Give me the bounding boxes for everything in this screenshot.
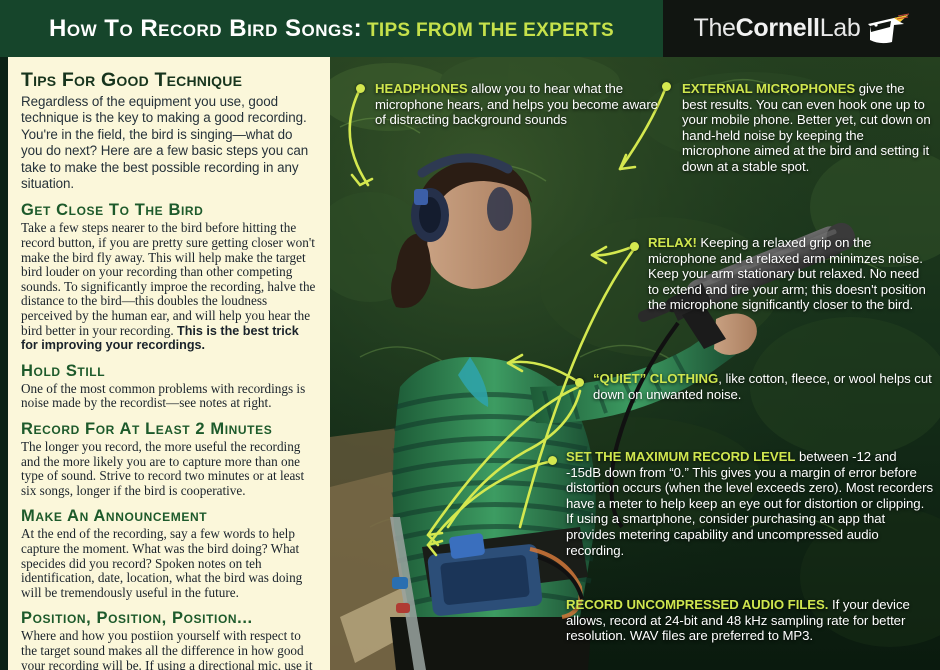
- callout-dot-record-level: [548, 456, 557, 465]
- sidebar-section-tips-for-good-technique: Tips for Good Technique Regardless of th…: [21, 69, 316, 192]
- callout-external-microphones: EXTERNAL MICROPHONES give the best resul…: [682, 81, 932, 175]
- callout-dot-quiet-clothing: [575, 378, 584, 387]
- tips-sidebar: Tips for Good Technique Regardless of th…: [8, 57, 330, 670]
- section-body-text: Take a few steps nearer to the bird befo…: [21, 220, 315, 337]
- sidebar-section-hold-still: Hold Still One of the most common proble…: [21, 362, 316, 411]
- logo-wordmark: TheCornellLab: [693, 14, 860, 43]
- callout-keyword: RECORD UNCOMPRESSED AUDIO FILES.: [566, 597, 828, 612]
- field-recording-photo: HEADPHONES allow you to hear what the mi…: [330, 57, 940, 670]
- page-title-main: How To Record Bird Songs:: [49, 15, 362, 42]
- section-body: Regardless of the equipment you use, goo…: [21, 94, 316, 192]
- infographic-page: How To Record Bird Songs: Tips from the …: [0, 0, 940, 670]
- callout-dot-relax: [630, 242, 639, 251]
- section-heading: Position, Position, Position...: [21, 609, 316, 628]
- page-title-accent: Tips from the Experts: [367, 20, 614, 41]
- callout-keyword: “QUIET” CLOTHING: [593, 371, 718, 386]
- cornell-lab-logo[interactable]: TheCornellLab: [663, 0, 940, 57]
- page-header: How To Record Bird Songs: Tips from the …: [0, 0, 940, 57]
- section-heading: Record For At Least 2 Minutes: [21, 420, 316, 439]
- callout-keyword: HEADPHONES: [375, 81, 468, 96]
- section-body: The longer you record, the more useful t…: [21, 440, 316, 498]
- sidebar-section-position-position-position: Position, Position, Position... Where an…: [21, 609, 316, 670]
- section-body: Where and how you postiion yourself with…: [21, 629, 316, 670]
- callout-keyword: EXTERNAL MICROPHONES: [682, 81, 855, 96]
- section-body: One of the most common problems with rec…: [21, 382, 316, 411]
- sidebar-section-make-an-announcement: Make An Announcement At the end of the r…: [21, 507, 316, 600]
- section-heading: Make An Announcement: [21, 507, 316, 526]
- logo-cornell: Cornell: [736, 14, 820, 42]
- callout-keyword: RELAX!: [648, 235, 697, 250]
- section-heading: Get Close to the Bird: [21, 201, 316, 220]
- section-body: At the end of the recording, say a few w…: [21, 527, 316, 600]
- callout-record-level: SET THE MAXIMUM RECORD LEVEL between -12…: [566, 449, 934, 558]
- logo-the: The: [693, 14, 735, 42]
- callout-headphones: HEADPHONES allow you to hear what the mi…: [375, 81, 665, 128]
- header-title-block: How To Record Bird Songs: Tips from the …: [0, 0, 663, 57]
- section-heading: Tips for Good Technique: [21, 69, 316, 92]
- sidebar-section-record-for-at-least-2-minutes: Record For At Least 2 Minutes The longer…: [21, 420, 316, 498]
- page-title: How To Record Bird Songs: Tips from the …: [49, 15, 614, 43]
- section-heading: Hold Still: [21, 362, 316, 381]
- callout-text: between -12 and -15dB down from “0.” Thi…: [566, 449, 933, 558]
- section-body: Take a few steps nearer to the bird befo…: [21, 221, 316, 352]
- callout-relax: RELAX! Keeping a relaxed grip on the mic…: [648, 235, 933, 313]
- sidebar-section-get-close-to-the-bird: Get Close to the Bird Take a few steps n…: [21, 201, 316, 352]
- logo-lab: Lab: [820, 14, 861, 42]
- callout-uncompressed-files: RECORD UNCOMPRESSED AUDIO FILES. If your…: [566, 597, 934, 644]
- bird-head-icon: [864, 12, 910, 46]
- callout-keyword: SET THE MAXIMUM RECORD LEVEL: [566, 449, 795, 464]
- callout-quiet-clothing: “QUIET” CLOTHING, like cotton, fleece, o…: [593, 371, 933, 402]
- callout-dot-headphones: [356, 84, 365, 93]
